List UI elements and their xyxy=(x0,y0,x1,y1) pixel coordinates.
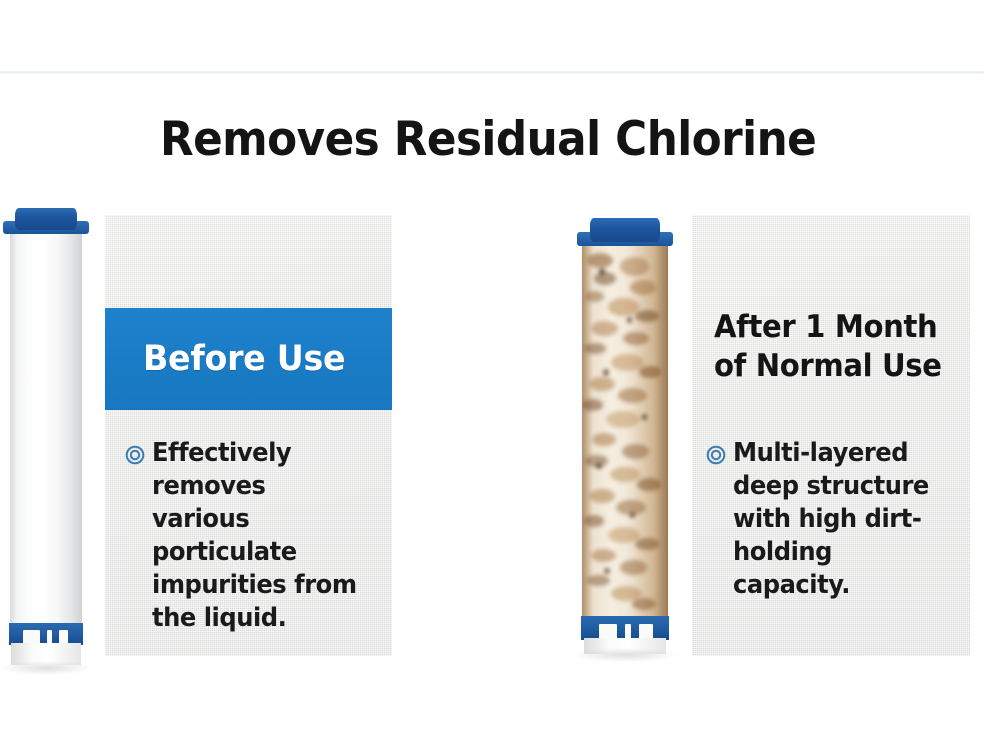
after-use-bullet: Multi-layered deep structure with high d… xyxy=(706,437,964,602)
panel-before-use: Before Use Effectively removes various p… xyxy=(105,215,392,656)
after-use-bullet-text: Multi-layered deep structure with high d… xyxy=(733,437,948,602)
base-slot xyxy=(639,624,653,639)
double-circle-bullet-icon xyxy=(706,445,726,465)
top-divider xyxy=(0,71,984,74)
cartridge-base-ring xyxy=(9,623,83,645)
cartridge-top-cap xyxy=(590,218,660,242)
water-filter-cartridge-used xyxy=(573,218,677,658)
water-filter-cartridge-clean xyxy=(0,205,92,670)
before-use-bullet: Effectively removes various porticulate … xyxy=(125,437,387,635)
base-slot xyxy=(599,624,617,639)
infographic-root: Removes Residual Chlorine Before Use Eff… xyxy=(0,0,984,754)
base-slot xyxy=(625,624,631,639)
before-use-bullet-text: Effectively removes various porticulate … xyxy=(152,437,371,635)
after-use-heading: After 1 Month of Normal Use xyxy=(714,308,949,386)
before-use-banner: Before Use xyxy=(105,308,392,410)
cartridge-top-cap xyxy=(15,208,77,230)
after-use-heading-line-1: After 1 Month xyxy=(714,308,949,347)
after-use-heading-line-2: of Normal Use xyxy=(714,347,949,386)
double-circle-bullet-icon xyxy=(125,445,145,465)
cartridge-shadow xyxy=(0,661,92,675)
cartridge-base-ring xyxy=(581,616,669,640)
page-title: Removes Residual Chlorine xyxy=(160,112,816,167)
cartridge-body-soiled xyxy=(582,246,668,620)
before-use-heading: Before Use xyxy=(143,339,345,379)
panel-after-one-month: After 1 Month of Normal Use Multi-layere… xyxy=(692,215,970,656)
cartridge-body xyxy=(10,234,82,628)
cartridge-shadow xyxy=(573,648,677,662)
dirt-staining xyxy=(582,246,668,620)
